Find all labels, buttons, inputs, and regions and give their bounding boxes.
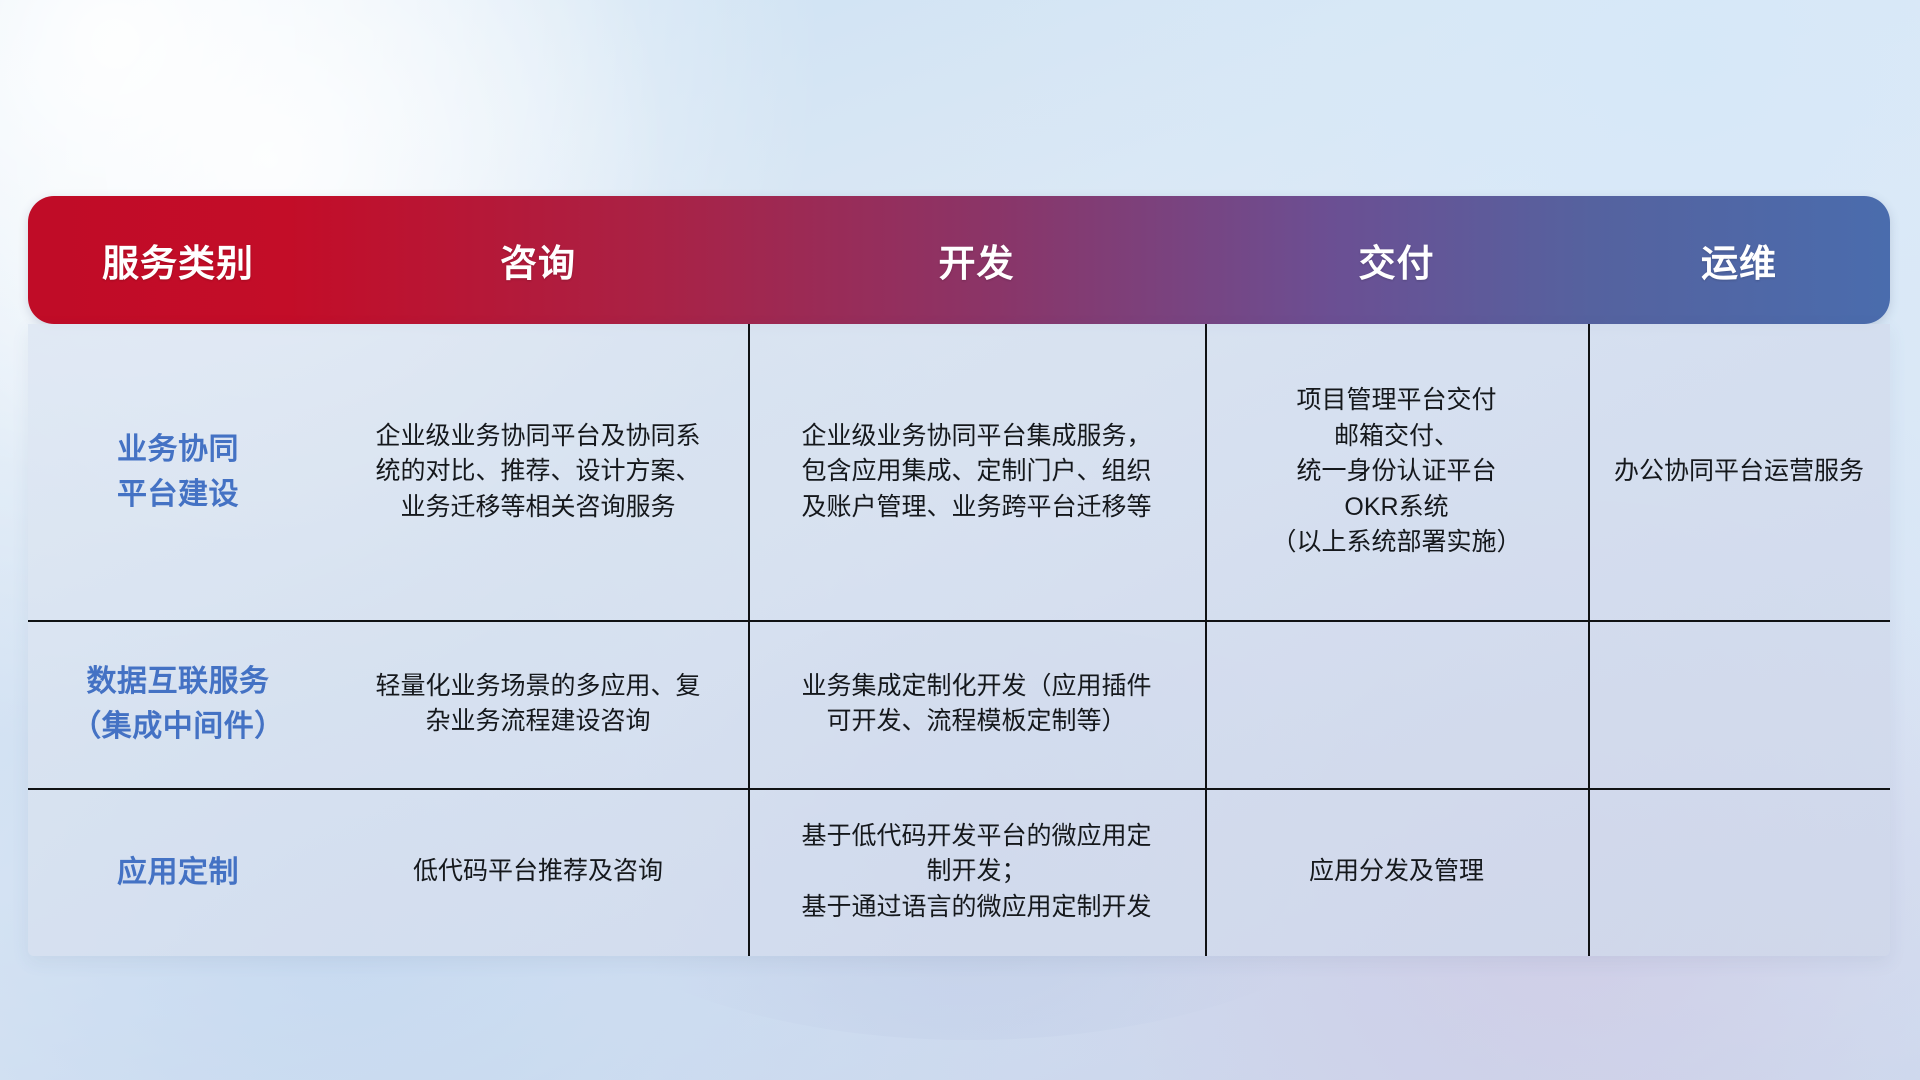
column-divider-development [748, 324, 750, 956]
column-header-delivery: 交付 [1205, 233, 1588, 287]
table-header-bar: 服务类别 咨询 开发 交付 运维 [28, 196, 1890, 324]
row-divider-2 [28, 788, 1890, 790]
cell-consulting-row-1: 轻量化业务场景的多应用、复 杂业务流程建设咨询 [328, 620, 748, 788]
row-label-data-interconnect: 数据互联服务 （集成中间件） [28, 620, 328, 788]
table-body: 业务协同 平台建设 企业级业务协同平台及协同系 统的对比、推荐、设计方案、 业务… [28, 324, 1890, 956]
column-header-category: 服务类别 [28, 233, 328, 287]
table-row: 业务协同 平台建设 企业级业务协同平台及协同系 统的对比、推荐、设计方案、 业务… [28, 324, 1890, 620]
table-row: 应用定制 低代码平台推荐及咨询 基于低代码开发平台的微应用定 制开发； 基于通过… [28, 788, 1890, 956]
cell-development-row-1: 业务集成定制化开发（应用插件 可开发、流程模板定制等） [748, 620, 1205, 788]
column-header-operations: 运维 [1588, 233, 1890, 287]
cell-development-row-0: 企业级业务协同平台集成服务， 包含应用集成、定制门户、组织 及账户管理、业务跨平… [748, 324, 1205, 620]
service-matrix-table: 服务类别 咨询 开发 交付 运维 业务协同 平台建设 企业级业务协同平台及协同系… [28, 196, 1890, 956]
table-row: 数据互联服务 （集成中间件） 轻量化业务场景的多应用、复 杂业务流程建设咨询 业… [28, 620, 1890, 788]
row-label-business-collaboration: 业务协同 平台建设 [28, 324, 328, 620]
column-divider-delivery [1205, 324, 1207, 956]
column-header-consulting: 咨询 [328, 233, 748, 287]
cell-operations-row-2 [1588, 788, 1890, 956]
cell-delivery-row-0: 项目管理平台交付 邮箱交付、 统一身份认证平台 OKR系统 （以上系统部署实施） [1205, 324, 1588, 620]
cell-operations-row-0: 办公协同平台运营服务 [1588, 324, 1890, 620]
column-divider-operations [1588, 324, 1590, 956]
cell-development-row-2: 基于低代码开发平台的微应用定 制开发； 基于通过语言的微应用定制开发 [748, 788, 1205, 956]
cell-delivery-row-1 [1205, 620, 1588, 788]
cell-consulting-row-0: 企业级业务协同平台及协同系 统的对比、推荐、设计方案、 业务迁移等相关咨询服务 [328, 324, 748, 620]
cell-delivery-row-2: 应用分发及管理 [1205, 788, 1588, 956]
row-divider-1 [28, 620, 1890, 622]
column-header-development: 开发 [748, 233, 1205, 287]
cell-operations-row-1 [1588, 620, 1890, 788]
row-label-app-customization: 应用定制 [28, 788, 328, 956]
cell-consulting-row-2: 低代码平台推荐及咨询 [328, 788, 748, 956]
